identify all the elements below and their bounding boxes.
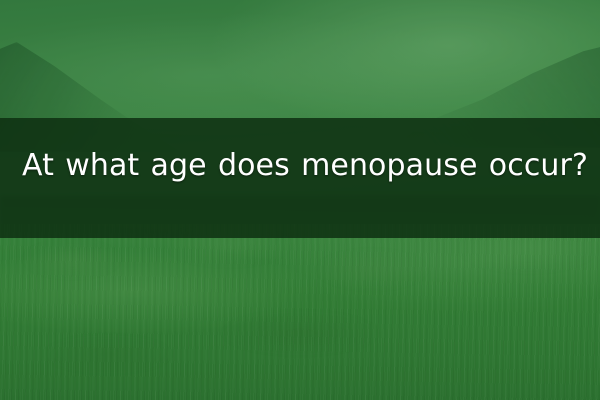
caption-question-text: At what age does menopause occur?: [22, 143, 588, 235]
caption-band: At what age does menopause occur?: [0, 118, 600, 238]
screenshot-root: At what age does menopause occur?: [0, 0, 600, 400]
